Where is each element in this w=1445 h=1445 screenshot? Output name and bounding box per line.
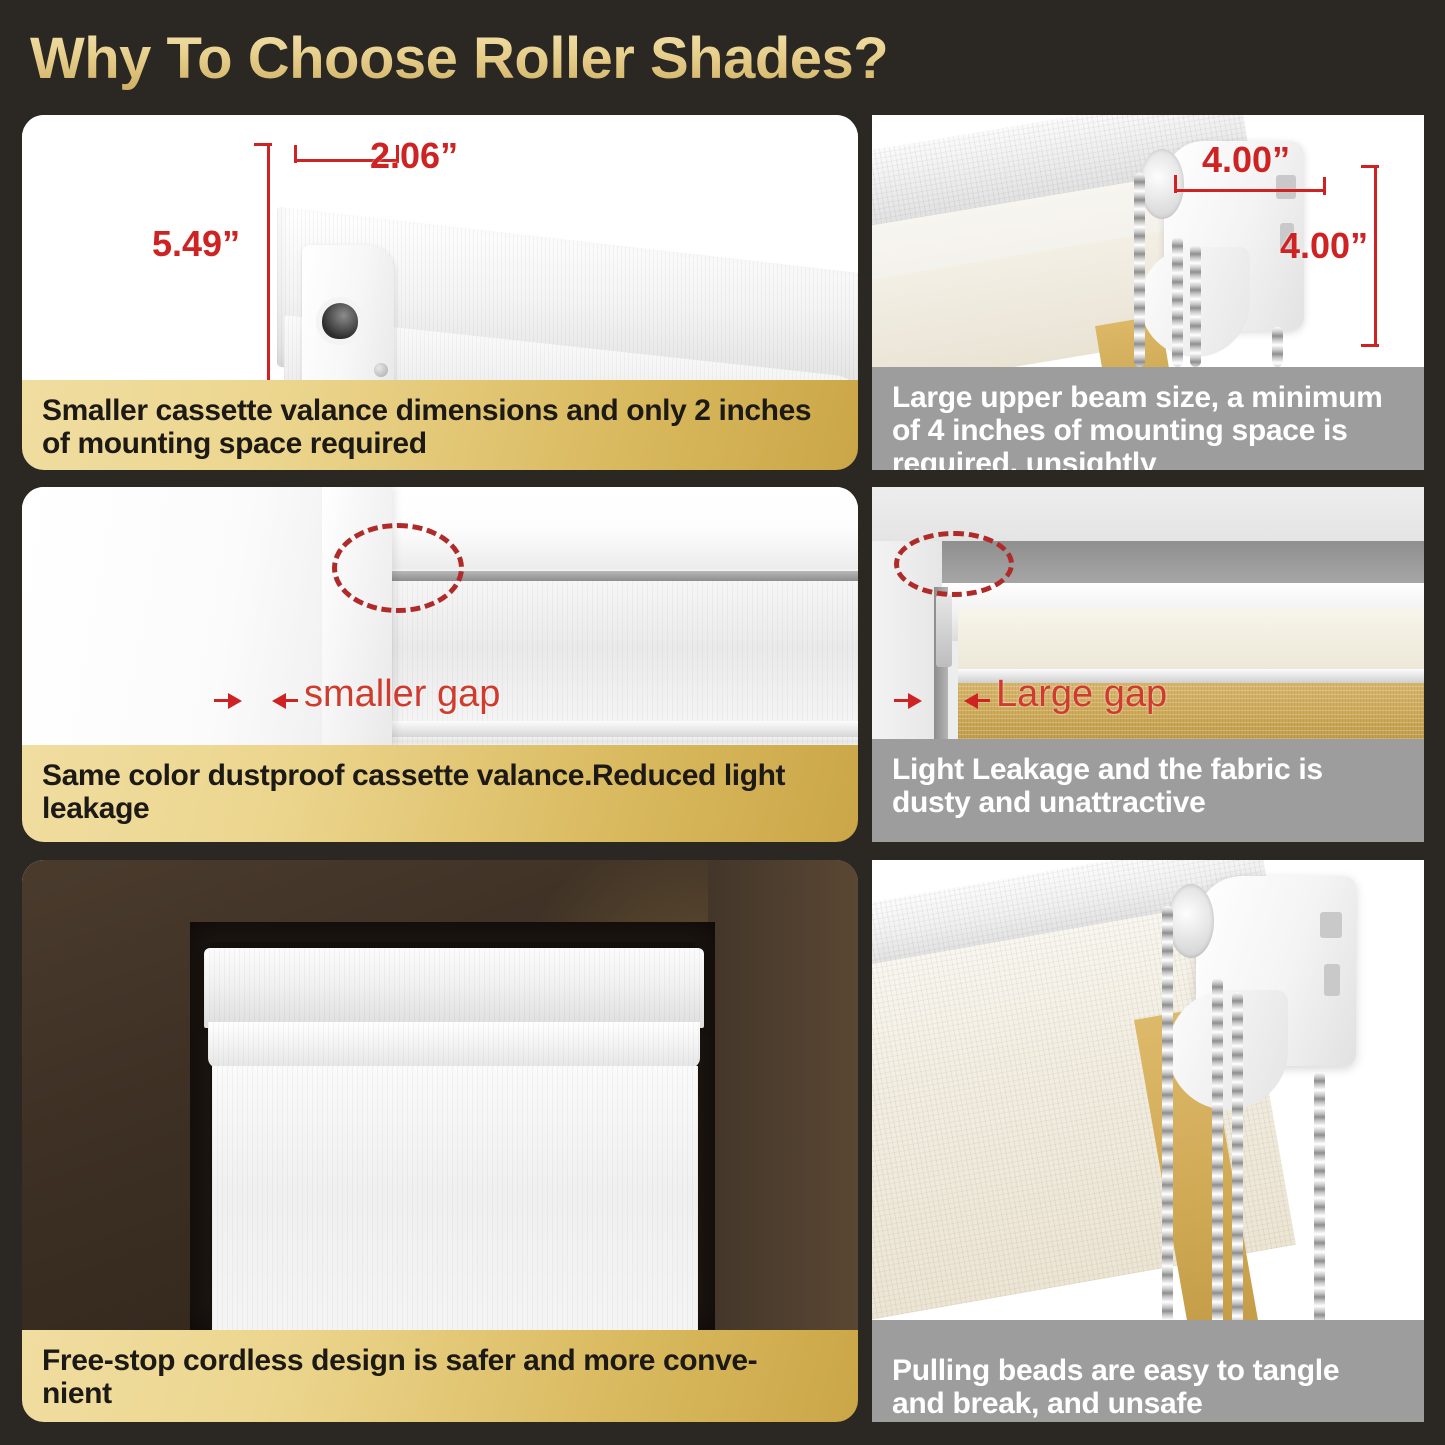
panel-4-caption-bar: Light Leakage and the fabric is dusty an… <box>872 739 1424 842</box>
mounting-bracket-lobe <box>1168 990 1288 1110</box>
panel-6-caption-line-1: Pulling beads are easy to tangle <box>892 1354 1339 1387</box>
wall-right <box>708 860 858 1330</box>
panel-1-image: 2.06” 5.49” <box>22 115 858 380</box>
panel-3-caption-bar: Same color dustproof cassette valance.Re… <box>22 745 858 842</box>
panel-3-image: smaller gap <box>22 487 858 745</box>
panel-6-image <box>872 860 1424 1340</box>
beam-width-dimension-label: 4.00” <box>1202 139 1290 181</box>
panel-1-caption-text: Smaller cassette valance dimensions and … <box>42 394 840 460</box>
bead-chain-tail <box>1272 327 1283 367</box>
beam-width-tick-left <box>1174 175 1177 193</box>
beam-height-dimension-label: 4.00” <box>1280 225 1368 267</box>
panel-5-caption-bar: Free-stop cordless design is safer and m… <box>22 1330 858 1422</box>
panel-large-upper-beam: 4.00” 4.00” Large upper beam size, a min… <box>872 115 1424 470</box>
height-dimension-line <box>267 143 270 380</box>
panel-2-caption-text: Large upper beam size, a minimum of 4 in… <box>892 381 1406 470</box>
panel-light-leakage: Large gap Light Leakage and the fabric i… <box>872 487 1424 842</box>
panel-6-caption-bar: Pulling beads are easy to tangle and bre… <box>872 1340 1424 1422</box>
gap-arrow-right-stem <box>284 699 298 702</box>
bracket-clip <box>936 595 952 667</box>
bead-chain-mid <box>1212 978 1223 1336</box>
bracket-slot-mid-icon <box>1324 964 1340 996</box>
gap-highlight-ellipse <box>894 531 1014 597</box>
bead-chain-mid <box>1172 237 1183 367</box>
large-gap-label: Large gap <box>996 673 1167 716</box>
panel-4-caption-text: Light Leakage and the fabric is dusty an… <box>892 753 1406 819</box>
end-cap-slot-icon <box>322 303 358 339</box>
gap-highlight-ellipse <box>332 523 464 613</box>
gap-arrow-left-icon <box>908 693 922 709</box>
bead-chain-rear <box>1190 245 1201 367</box>
cream-fabric-band <box>958 609 1424 675</box>
panel-smaller-cassette: 2.06” 5.49” Smaller cassette valance dim… <box>22 115 858 470</box>
gap-arrow-left-stem <box>894 699 910 702</box>
panel-5-image <box>22 860 858 1330</box>
shade-mid-rail <box>378 721 858 737</box>
cassette-valance <box>204 948 704 1028</box>
panel-2-image: 4.00” 4.00” <box>872 115 1424 367</box>
panel-5-caption-line-1: Free-stop cordless design is safer and m… <box>42 1344 757 1377</box>
panel-cordless-design: Free-stop cordless design is safer and m… <box>22 860 858 1422</box>
bead-chain-front <box>1162 906 1173 1336</box>
beam-height-dimension-line <box>1374 165 1377 347</box>
shade-fabric-band-lower <box>382 737 858 745</box>
roller-end-disc <box>1140 149 1184 219</box>
panel-3-caption-text: Same color dustproof cassette valance.Re… <box>42 759 840 825</box>
panel-6-caption-line-2: and break, and unsafe <box>892 1387 1202 1420</box>
width-dimension-label: 2.06” <box>370 135 458 177</box>
beam-width-tick-right <box>1323 177 1326 195</box>
roller-end-disc <box>1168 884 1214 958</box>
gap-arrow-left-stem <box>214 699 230 702</box>
beam-height-tick-top <box>1361 165 1379 168</box>
bead-chain-front <box>1134 173 1145 367</box>
panel-5-caption-line-2: nient <box>42 1377 112 1410</box>
panel-pulling-beads: Pulling beads are easy to tangle and bre… <box>872 860 1424 1422</box>
beam-height-tick-bottom <box>1361 344 1379 347</box>
bead-chain-rear <box>1232 992 1243 1336</box>
smaller-gap-label: smaller gap <box>304 673 500 716</box>
panel-dustproof-valance: smaller gap Same color dustproof cassett… <box>22 487 858 842</box>
bead-chain-tail <box>1314 1072 1325 1336</box>
height-dimension-tick-top <box>254 143 272 146</box>
panel-6-footer-strip <box>872 1320 1424 1340</box>
panel-1-caption-bar: Smaller cassette valance dimensions and … <box>22 380 858 470</box>
gap-arrow-right-stem <box>976 699 990 702</box>
panel-4-image: Large gap <box>872 487 1424 739</box>
end-cap-screw-icon <box>374 363 388 377</box>
bracket-slot-top-icon <box>1320 912 1342 938</box>
panel-2-caption-bar: Large upper beam size, a minimum of 4 in… <box>872 367 1424 470</box>
width-dimension-tick-left <box>294 145 297 163</box>
valance-lip <box>208 1022 700 1068</box>
height-dimension-label: 5.49” <box>152 223 240 265</box>
infographic-root: Why To Choose Roller Shades? 2.06” 5.49”… <box>0 0 1445 1445</box>
beam-width-dimension-line <box>1174 189 1326 192</box>
page-title: Why To Choose Roller Shades? <box>30 20 1030 98</box>
gap-arrow-left-icon <box>228 693 242 709</box>
roller-shade-fabric <box>212 1066 698 1330</box>
